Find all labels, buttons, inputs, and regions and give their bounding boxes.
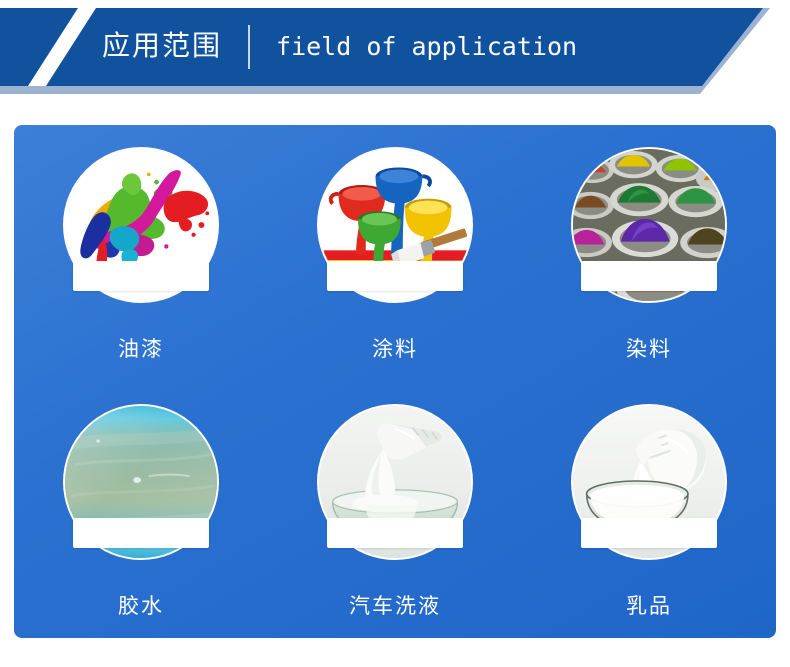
badge-plinth bbox=[581, 261, 717, 291]
grid-item-label: 胶水 bbox=[118, 595, 164, 618]
banner-content: 应用范围 field of application bbox=[102, 8, 577, 86]
badge-paint bbox=[63, 147, 219, 322]
application-panel: 油漆 bbox=[14, 125, 776, 638]
grid-item-coating[interactable]: 涂料 bbox=[268, 125, 522, 382]
banner-divider bbox=[248, 25, 250, 69]
badge-coating bbox=[317, 147, 473, 322]
page-title-cn: 应用范围 bbox=[102, 32, 222, 62]
grid-item-label: 汽车洗液 bbox=[349, 595, 441, 618]
grid-item-glue[interactable]: 胶水 bbox=[14, 382, 268, 639]
badge-dye bbox=[571, 147, 727, 322]
badge-car-wash bbox=[317, 404, 473, 579]
grid-item-label: 油漆 bbox=[118, 338, 164, 361]
grid-item-dye[interactable]: 染料 bbox=[522, 125, 776, 382]
badge-dairy bbox=[571, 404, 727, 579]
application-grid: 油漆 bbox=[14, 125, 776, 638]
grid-item-paint[interactable]: 油漆 bbox=[14, 125, 268, 382]
badge-glue bbox=[63, 404, 219, 579]
page-root: 应用范围 field of application bbox=[0, 0, 790, 667]
grid-item-dairy[interactable]: 乳品 bbox=[522, 382, 776, 639]
badge-plinth bbox=[327, 261, 463, 291]
page-title-en: field of application bbox=[276, 34, 577, 61]
badge-plinth bbox=[73, 261, 209, 291]
grid-item-car-wash[interactable]: 汽车洗液 bbox=[268, 382, 522, 639]
section-header-banner: 应用范围 field of application bbox=[0, 8, 790, 94]
grid-item-label: 涂料 bbox=[372, 338, 418, 361]
grid-item-label: 染料 bbox=[626, 338, 672, 361]
grid-item-label: 乳品 bbox=[626, 595, 672, 618]
badge-plinth bbox=[581, 518, 717, 548]
badge-plinth bbox=[327, 518, 463, 548]
badge-plinth bbox=[73, 518, 209, 548]
